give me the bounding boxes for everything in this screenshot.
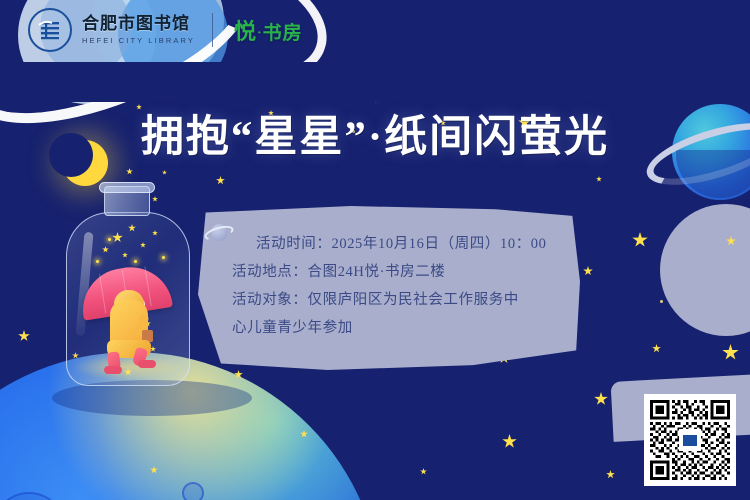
info-panel-content: 活动时间：2025年10月16日（周四）10：00 活动地点：合图24H悦·书房… (198, 206, 580, 370)
crater (182, 482, 204, 500)
grey-planet-icon (660, 204, 750, 336)
info-line-audience-cont: 心儿童青少年参加 (232, 314, 562, 342)
page-title: 拥抱“星星”·纸间闪萤光 (0, 116, 750, 159)
glass-bottle-icon (66, 186, 190, 386)
star-icon (606, 470, 615, 479)
star-icon (583, 266, 593, 276)
star-icon (216, 176, 225, 185)
child-with-umbrella-icon (90, 260, 170, 368)
child-boot-sole-right (138, 360, 156, 368)
star-icon (596, 176, 602, 182)
library-name-cn: 合肥市图书馆 (82, 15, 195, 33)
star-icon (652, 344, 661, 353)
star-icon (722, 344, 739, 361)
star-icon (18, 330, 30, 342)
library-seal-icon (28, 8, 72, 52)
blue-moon-planet-icon (0, 352, 382, 500)
poster-canvas: 拥抱“星星”·纸间闪萤光 活动时间：2025年10月16日（周四）10：00 活… (0, 0, 750, 500)
info-line-time: 活动时间：2025年10月16日（周四）10：00 (232, 230, 562, 258)
qr-code[interactable] (644, 394, 736, 486)
child-boot-sole-left (104, 366, 122, 374)
firefly-icon (108, 238, 111, 241)
info-line-place: 活动地点：合图24H悦·书房二楼 (232, 258, 562, 286)
library-name-block: 合肥市图书馆 HEFEI CITY LIBRARY (82, 15, 195, 45)
bottle-lip (99, 182, 155, 193)
brand-yue-shufang: 悦·书房 (234, 14, 303, 46)
vertical-divider (212, 13, 213, 47)
brand-shufang: 书房 (263, 23, 303, 44)
star-icon (162, 170, 167, 175)
star-dot (660, 300, 663, 303)
library-logo: 合肥市图书馆 HEFEI CITY LIBRARY 悦·书房 (28, 8, 303, 52)
library-logo-icon (679, 429, 701, 451)
star-icon (126, 168, 133, 175)
library-name-en: HEFEI CITY LIBRARY (82, 36, 195, 45)
star-icon (632, 232, 648, 248)
star-icon (420, 468, 427, 475)
header-mask (0, 62, 750, 102)
info-line-audience: 活动对象：仅限庐阳区为民社会工作服务中 (232, 286, 562, 314)
crater (0, 492, 66, 500)
ringed-planet-icon (206, 222, 232, 242)
brand-char-yue: 悦 (234, 19, 257, 44)
star-icon (594, 392, 608, 406)
star-icon (136, 104, 142, 110)
firefly-icon (162, 256, 165, 259)
star-icon (502, 434, 517, 449)
